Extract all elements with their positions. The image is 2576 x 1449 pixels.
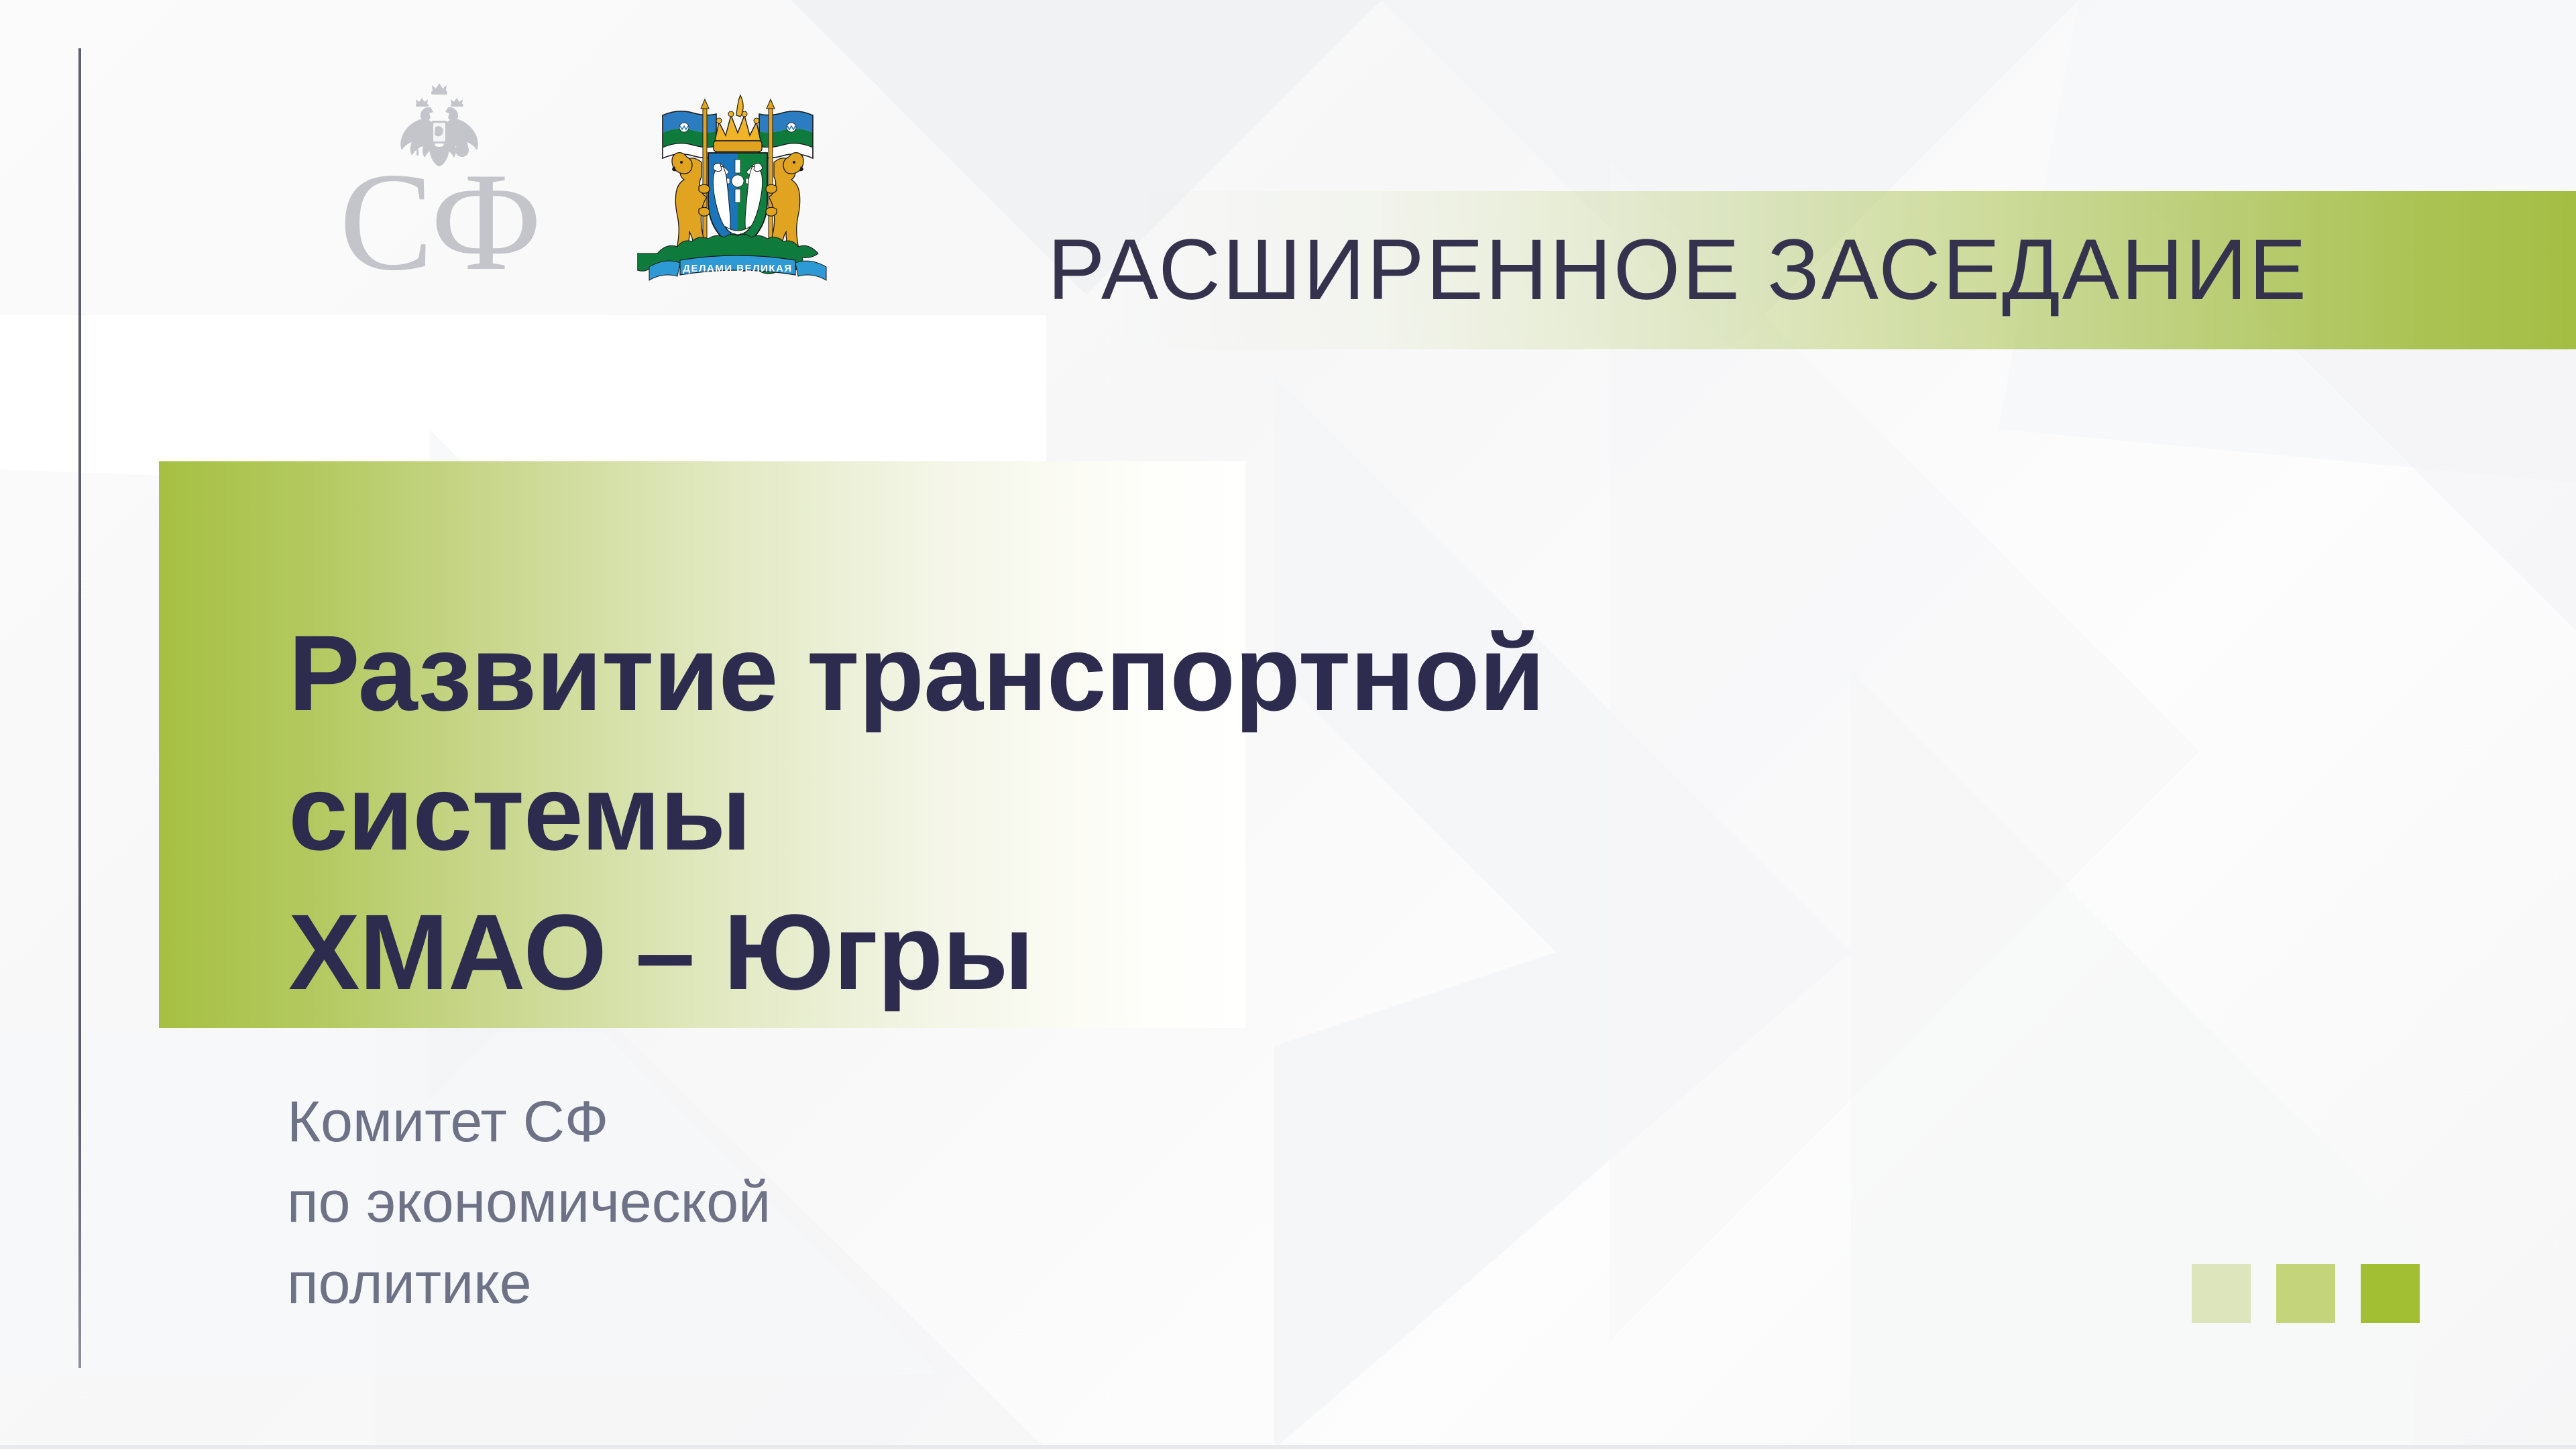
square-dark (2361, 1264, 2420, 1323)
decorative-squares (2192, 1264, 2420, 1323)
slide-title-line-1: Развитие транспортной системы (288, 603, 2032, 882)
logo-row: СФ (282, 79, 838, 280)
committee-subtitle-line-1: Комитет СФ (287, 1082, 771, 1162)
slide-title: Развитие транспортной системы ХМАО – Югр… (288, 603, 2032, 1022)
committee-subtitle-line-3: политике (287, 1243, 771, 1324)
federation-council-letters: СФ (282, 152, 597, 292)
committee-subtitle-line-2: по экономической (287, 1162, 771, 1242)
presentation-slide: СФ (0, 0, 2576, 1449)
coat-of-arms-motto: ДЕЛАМИ ВЕЛИКАЯ (683, 263, 792, 274)
slide-title-line-2: ХМАО – Югры (288, 882, 2032, 1022)
square-light (2192, 1264, 2251, 1323)
left-vertical-rule (78, 48, 81, 1368)
khmao-yugra-coat-of-arms-icon: ДЕЛАМИ ВЕЛИКАЯ (637, 87, 838, 288)
header-title: РАСШИРЕННОЕ ЗАСЕДАНИЕ (1048, 206, 2308, 333)
square-medium (2276, 1264, 2335, 1323)
committee-subtitle: Комитет СФ по экономической политике (287, 1082, 771, 1324)
federation-council-logo: СФ (282, 79, 597, 280)
